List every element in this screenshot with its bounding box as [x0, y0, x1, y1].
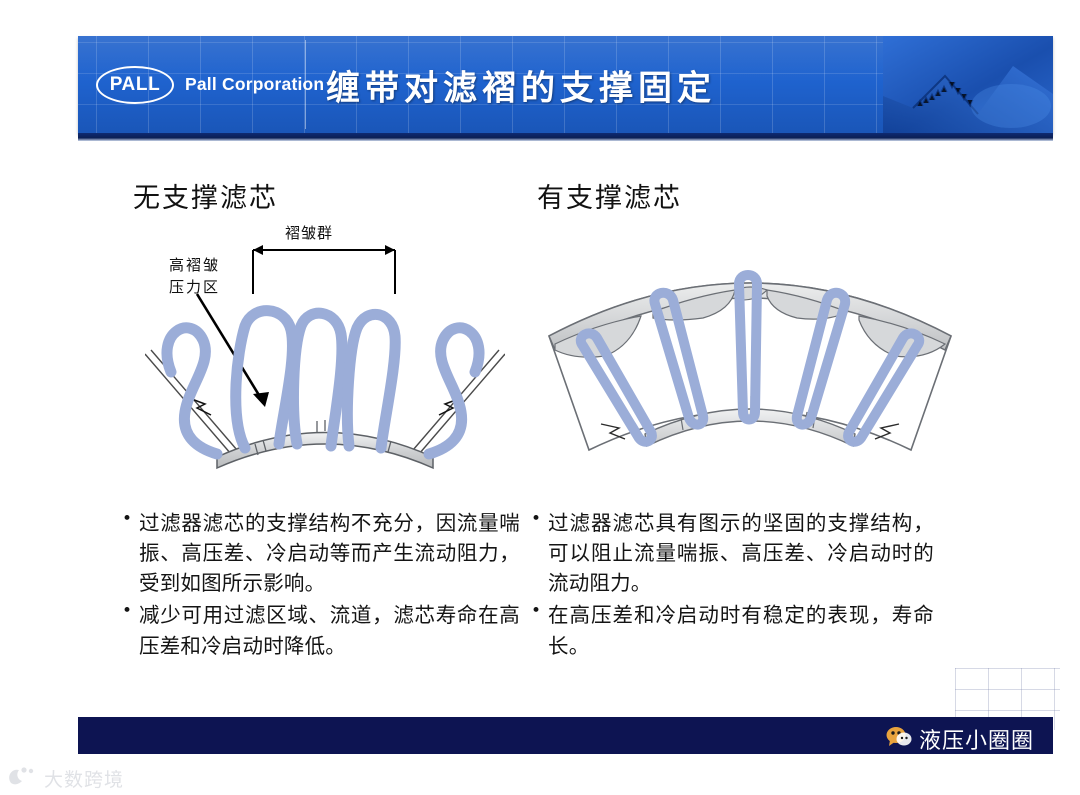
pall-oval-icon: PALL	[96, 66, 174, 104]
wechat-icon	[886, 726, 912, 753]
pall-logo: PALL Pall Corporation	[96, 66, 324, 104]
left-column-heading: 无支撑滤芯	[133, 176, 278, 215]
brand-watermark-text: 大数跨境	[44, 765, 124, 792]
brand-watermark: 大数跨境	[8, 765, 124, 792]
wechat-account-name: 液压小圈圈	[919, 723, 1034, 755]
header-bottom-strip	[78, 133, 1053, 141]
brand-name: Pall Corporation	[185, 74, 324, 95]
list-item: 过滤器滤芯的支撑结构不充分，因流量喘振、高压差、冷启动等而产生流动阻力，受到如图…	[120, 508, 520, 598]
header-banner: PALL Pall Corporation 缠带对滤褶的支撑固定	[78, 36, 1053, 133]
page-title: 缠带对滤褶的支撑固定	[326, 60, 716, 109]
list-item: 减少可用过滤区域、流道，滤芯寿命在高压差和冷启动时降低。	[120, 600, 520, 660]
pressure-zone-label-line1: 高褶皱	[169, 256, 220, 274]
list-item: 在高压差和冷启动时有稳定的表现，寿命长。	[529, 600, 934, 660]
pleat-group-dimension-line	[253, 250, 395, 294]
wechat-account-mark: 液压小圈圈	[886, 723, 1034, 755]
header-decorative-art	[883, 36, 1053, 133]
left-bullet-list: 过滤器滤芯的支撑结构不充分，因流量喘振、高压差、冷启动等而产生流动阻力，受到如图…	[120, 508, 520, 663]
list-item: 过滤器滤芯具有图示的坚固的支撑结构，可以阻止流量喘振、高压差、冷启动时的流动阻力…	[529, 508, 934, 598]
pressure-zone-label-line2: 压力区	[169, 278, 220, 296]
core-support-arc	[217, 420, 433, 468]
brand-watermark-icon	[8, 766, 38, 791]
right-bullet-list: 过滤器滤芯具有图示的坚固的支撑结构，可以阻止流量喘振、高压差、冷启动时的流动阻力…	[529, 508, 934, 663]
right-diagram-supported-filter	[535, 238, 965, 468]
right-column-heading: 有支撑滤芯	[537, 176, 682, 215]
pleat-group-label: 褶皱群	[285, 224, 333, 242]
left-diagram-unsupported-filter: 褶皱群 高褶皱 压力区	[145, 222, 505, 472]
